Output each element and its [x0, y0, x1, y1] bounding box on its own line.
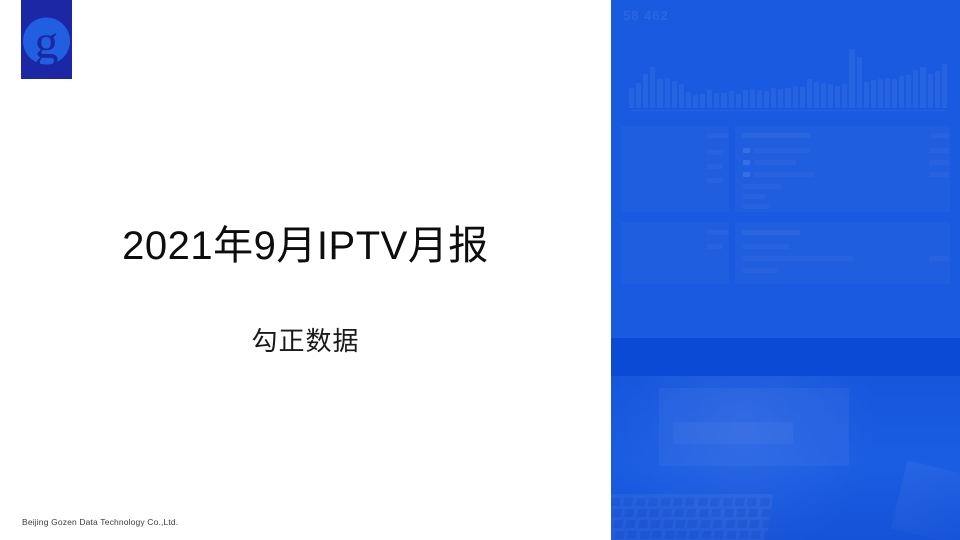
chart-bar: [771, 88, 776, 108]
keyboard-key: [712, 520, 722, 528]
keyboard-key: [613, 520, 623, 528]
keyboard-key: [675, 520, 685, 528]
keyboard-key: [760, 498, 770, 506]
page-subtitle: 勾正数据: [0, 270, 611, 357]
chart-bar: [849, 49, 854, 108]
chart-bar: [736, 94, 741, 108]
chart-bar: [899, 76, 904, 108]
photo-monitor: [659, 388, 849, 466]
keyboard-key: [737, 520, 747, 528]
keyboard-key: [722, 498, 732, 506]
photo-monitor-content: [673, 422, 793, 444]
chart-bar: [928, 74, 933, 108]
keyboard-key: [699, 509, 709, 517]
keyboard-key: [710, 498, 720, 506]
keyboard-key: [714, 531, 724, 539]
dashboard-row: [707, 178, 723, 183]
chart-bar: [857, 57, 862, 108]
chart-bar: [800, 87, 805, 108]
chart-bar: [643, 74, 648, 108]
keyboard-key: [739, 531, 749, 539]
dashboard-screenshot-overlay: 58 462: [611, 0, 960, 338]
chart-bar: [672, 81, 677, 108]
keyboard-key: [685, 498, 695, 506]
chart-bar: [906, 75, 911, 108]
chart-bar: [864, 82, 869, 108]
keyboard-key: [627, 531, 637, 539]
chart-bar: [721, 93, 726, 108]
chart-bar: [942, 64, 947, 108]
dashboard-row-meta-2: [707, 230, 729, 235]
keyboard-key: [762, 520, 772, 528]
keyboard-key: [636, 498, 646, 506]
dashboard-row: [707, 164, 723, 169]
chart-bar: [700, 94, 705, 108]
keyboard-key: [652, 531, 662, 539]
chart-bar: [785, 88, 790, 108]
chart-bar: [657, 79, 662, 108]
keyboard-key: [735, 498, 745, 506]
keyboard-key: [615, 531, 625, 539]
dashboard-headline-number: 58 462: [623, 8, 669, 23]
dashboard-row-value: [931, 133, 949, 138]
dashboard-row-title-2: [742, 230, 800, 235]
page-title: 2021年9月IPTV月报: [0, 222, 611, 270]
chart-bar: [743, 90, 748, 108]
keyboard-key: [747, 498, 757, 506]
chart-bar: [778, 89, 783, 108]
office-photo-overlay: [611, 376, 960, 540]
accent-band: [611, 338, 960, 376]
dashboard-row: [707, 150, 723, 155]
keyboard-key: [674, 509, 684, 517]
keyboard-key: [700, 520, 710, 528]
dashboard-card-right: [735, 126, 950, 212]
chart-bar: [935, 71, 940, 108]
chart-axis-line: [629, 110, 947, 111]
slide-root: g 2021年9月IPTV月报 勾正数据 Beijing Gozen Data …: [0, 0, 960, 540]
chart-bar: [757, 90, 762, 108]
chart-bar: [764, 91, 769, 108]
chart-bar: [729, 91, 734, 108]
dashboard-row: [743, 204, 769, 209]
keyboard-key: [649, 509, 659, 517]
logo-g-icon: g: [21, 0, 72, 79]
chart-bar: [750, 89, 755, 108]
dashboard-row: [929, 172, 949, 177]
chart-bar: [686, 92, 691, 108]
chart-bar: [828, 84, 833, 108]
chart-bar: [842, 84, 847, 108]
chart-bar: [885, 78, 890, 108]
keyboard-key: [701, 531, 711, 539]
chart-bar: [821, 83, 826, 108]
photo-light-glow: [891, 460, 960, 540]
chart-bar: [892, 79, 897, 108]
keyboard-key: [763, 531, 773, 539]
dashboard-row: [929, 256, 949, 261]
chart-bar: [807, 79, 812, 108]
keyboard-key: [664, 531, 674, 539]
chart-bar: [636, 83, 641, 108]
keyboard-key: [660, 498, 670, 506]
keyboard-key: [624, 509, 634, 517]
chart-bar: [871, 80, 876, 108]
keyboard-key: [650, 520, 660, 528]
dashboard-row: [754, 148, 810, 153]
chart-bar: [814, 82, 819, 108]
dashboard-row: [743, 256, 853, 261]
dashboard-swatch: [743, 160, 750, 165]
chart-bar: [913, 70, 918, 108]
keyboard-key: [686, 509, 696, 517]
keyboard-key: [698, 498, 708, 506]
keyboard-key: [662, 509, 672, 517]
dashboard-row: [743, 244, 789, 249]
dashboard-row-meta: [707, 133, 729, 138]
keyboard-key: [677, 531, 687, 539]
dashboard-row-title: [742, 133, 810, 138]
keyboard-key: [751, 531, 761, 539]
chart-bar: [693, 95, 698, 108]
chart-bar: [878, 79, 883, 108]
chart-bar: [629, 88, 634, 108]
chart-bar: [835, 86, 840, 108]
chart-bar: [650, 67, 655, 108]
keyboard-key: [673, 498, 683, 506]
dashboard-row: [743, 268, 777, 273]
keyboard-key: [711, 509, 721, 517]
dashboard-row: [929, 160, 949, 165]
chart-bar: [665, 78, 670, 108]
dashboard-swatch: [743, 148, 750, 153]
dashboard-row: [754, 172, 814, 177]
dashboard-card-left: [621, 126, 729, 212]
keyboard-key: [750, 520, 760, 528]
dashboard-swatch: [743, 172, 750, 177]
keyboard-key: [648, 498, 658, 506]
keyboard-key: [663, 520, 673, 528]
keyboard-key: [626, 520, 636, 528]
decorative-blue-panel: 58 462: [611, 0, 960, 540]
dashboard-row: [754, 160, 796, 165]
keyboard-key: [748, 509, 758, 517]
keyboard-key: [612, 509, 622, 517]
dashboard-row: [743, 194, 765, 199]
keyboard-key: [761, 509, 771, 517]
keyboard-key: [637, 509, 647, 517]
keyboard-key: [725, 520, 735, 528]
chart-bar: [920, 67, 925, 108]
chart-bar: [679, 84, 684, 108]
keyboard-key: [638, 520, 648, 528]
footer-company-name: Beijing Gozen Data Technology Co.,Ltd.: [22, 517, 178, 527]
keyboard-key: [724, 509, 734, 517]
keyboard-key: [611, 498, 621, 506]
keyboard-key: [689, 531, 699, 539]
keyboard-key: [688, 520, 698, 528]
dashboard-row: [707, 244, 723, 249]
keyboard-key: [623, 498, 633, 506]
dashboard-row: [929, 148, 949, 153]
svg-text:g: g: [35, 16, 59, 69]
dashboard-row: [743, 184, 781, 189]
chart-bar: [793, 86, 798, 108]
keyboard-key: [639, 531, 649, 539]
gozen-logo: g: [21, 0, 72, 79]
dashboard-bar-chart: [629, 42, 947, 108]
photo-keyboard: [611, 494, 774, 540]
keyboard-key: [736, 509, 746, 517]
title-block: 2021年9月IPTV月报 勾正数据: [0, 222, 611, 357]
chart-bar: [707, 90, 712, 108]
chart-bar: [714, 93, 719, 108]
keyboard-key: [726, 531, 736, 539]
